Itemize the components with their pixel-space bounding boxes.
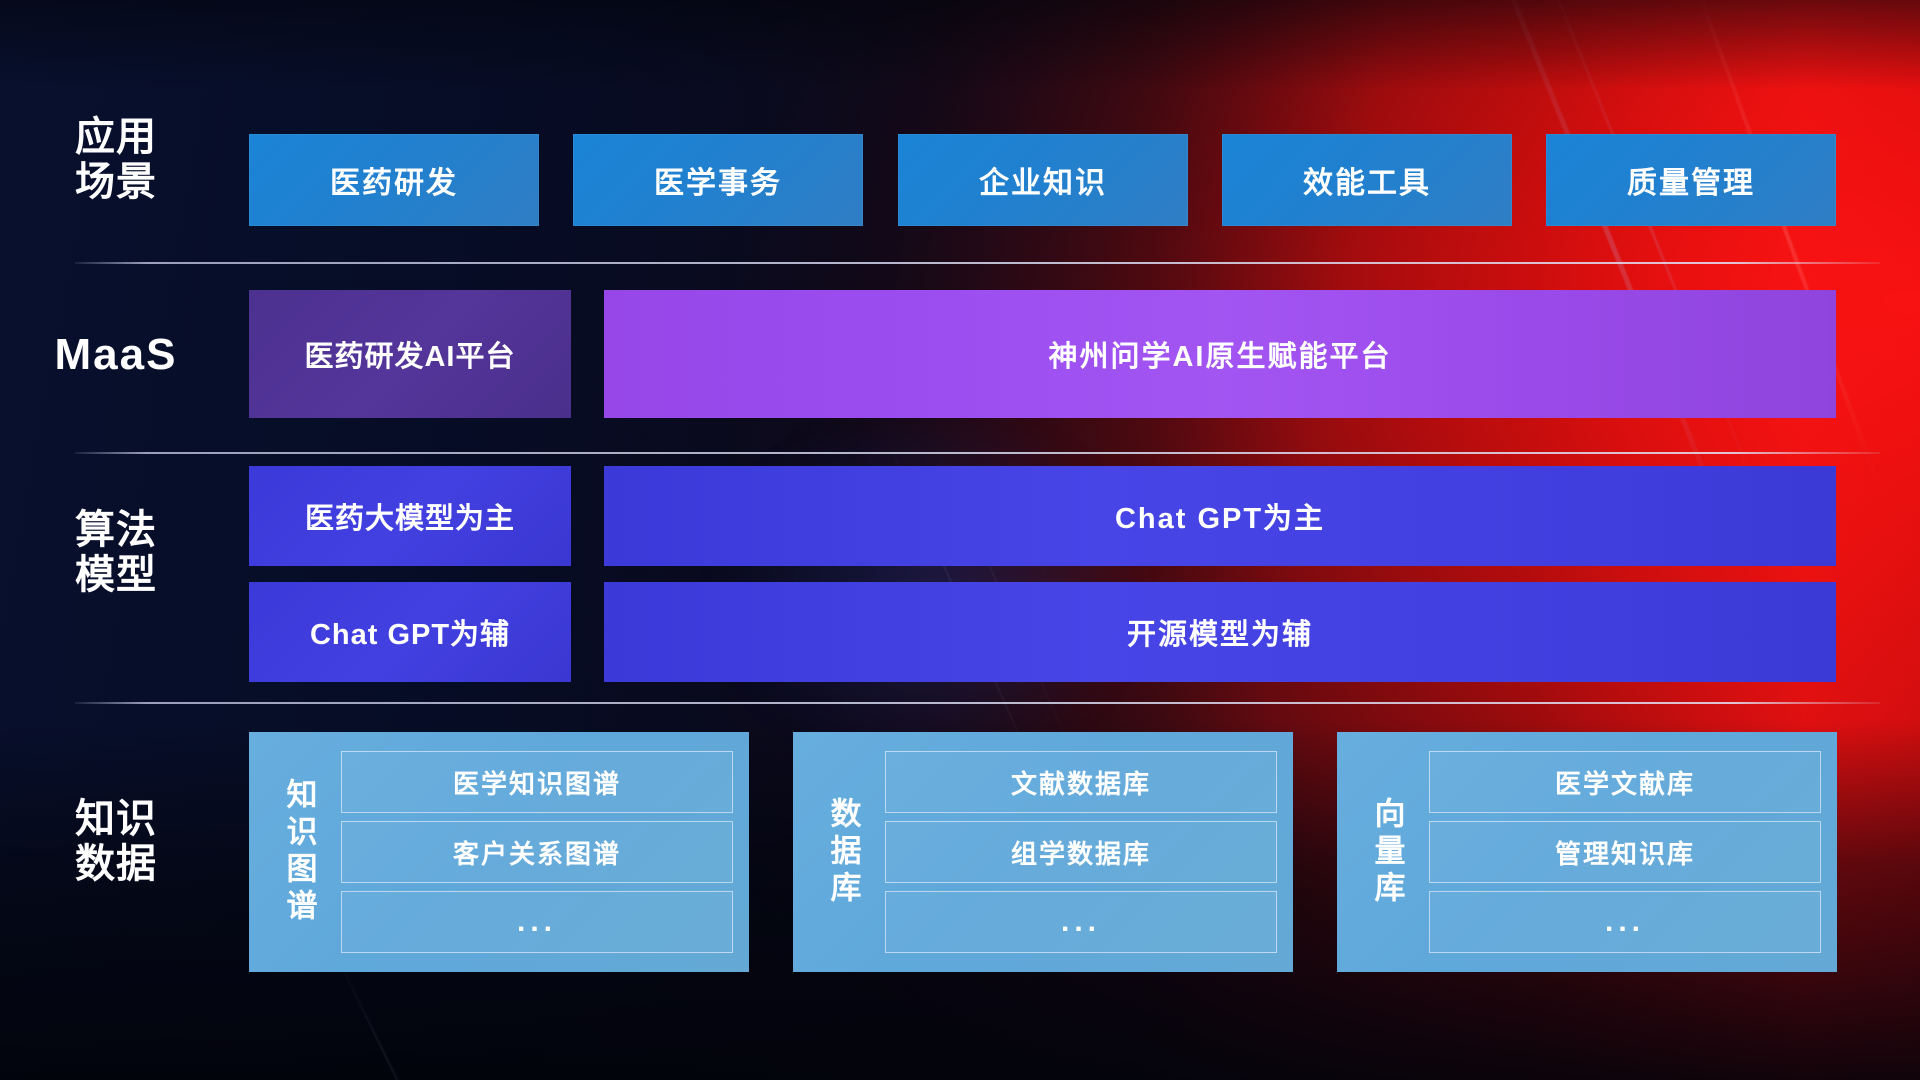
- scenario-card-5[interactable]: 质量管理: [1546, 134, 1836, 226]
- knowledge-item[interactable]: 客户关系图谱: [341, 821, 733, 883]
- row-label-scenarios-line1: 应用: [0, 115, 232, 160]
- row-label-knowledge-line2: 数据: [0, 842, 232, 887]
- algorithm-bar-2-left-label: Chat GPT为辅: [310, 611, 510, 653]
- knowledge-group-graph-items: 医学知识图谱 客户关系图谱 ...: [335, 746, 733, 958]
- knowledge-item-more[interactable]: ...: [885, 891, 1277, 953]
- row-label-scenarios: 应用 场景: [0, 115, 232, 205]
- scenario-card-3[interactable]: 企业知识: [898, 134, 1188, 226]
- knowledge-item[interactable]: 医学文献库: [1429, 751, 1821, 813]
- algorithm-bar-2-right[interactable]: 开源模型为辅: [604, 582, 1836, 682]
- knowledge-group-vector-label: 向量库: [1351, 746, 1423, 958]
- maas-card-medical-ai-platform[interactable]: 医药研发AI平台: [249, 290, 571, 418]
- knowledge-group-vector[interactable]: 向量库 医学文献库 管理知识库 ...: [1337, 732, 1837, 972]
- knowledge-group-vector-items: 医学文献库 管理知识库 ...: [1423, 746, 1821, 958]
- knowledge-group-graph[interactable]: 知识图谱 医学知识图谱 客户关系图谱 ...: [249, 732, 749, 972]
- row-label-algorithm-line1: 算法: [0, 508, 232, 553]
- row-label-maas: MaaS: [0, 330, 232, 379]
- knowledge-item-more[interactable]: ...: [341, 891, 733, 953]
- scenario-card-4-label: 效能工具: [1303, 158, 1431, 202]
- row-label-knowledge-line1: 知识: [0, 797, 232, 842]
- scenario-card-5-label: 质量管理: [1627, 158, 1755, 202]
- scenario-card-4[interactable]: 效能工具: [1222, 134, 1512, 226]
- algorithm-bar-1-left[interactable]: 医药大模型为主: [249, 466, 571, 566]
- row-label-maas-text: MaaS: [0, 330, 232, 379]
- algorithm-bar-1-left-label: 医药大模型为主: [305, 495, 515, 537]
- scenario-card-1[interactable]: 医药研发: [249, 134, 539, 226]
- divider-scenarios-maas: [75, 262, 1880, 264]
- row-label-algorithm: 算法 模型: [0, 508, 232, 598]
- knowledge-group-database[interactable]: 数据库 文献数据库 组学数据库 ...: [793, 732, 1293, 972]
- row-label-algorithm-line2: 模型: [0, 553, 232, 598]
- algorithm-bar-2-left[interactable]: Chat GPT为辅: [249, 582, 571, 682]
- scenario-card-1-label: 医药研发: [330, 158, 458, 202]
- scenario-card-3-label: 企业知识: [979, 158, 1107, 202]
- algorithm-bar-1-right[interactable]: Chat GPT为主: [604, 466, 1836, 566]
- knowledge-item[interactable]: 组学数据库: [885, 821, 1277, 883]
- knowledge-group-graph-label: 知识图谱: [263, 746, 335, 958]
- maas-card-shenzhou-platform-label: 神州问学AI原生赋能平台: [1048, 333, 1391, 375]
- divider-algorithm-knowledge: [75, 702, 1880, 704]
- architecture-diagram: 应用 场景 医药研发 医学事务 企业知识 效能工具 质量管理 MaaS 医药研发…: [0, 0, 1920, 1080]
- knowledge-group-database-label: 数据库: [807, 746, 879, 958]
- knowledge-item[interactable]: 管理知识库: [1429, 821, 1821, 883]
- scenario-card-2-label: 医学事务: [654, 158, 782, 202]
- knowledge-item-more[interactable]: ...: [1429, 891, 1821, 953]
- knowledge-item[interactable]: 文献数据库: [885, 751, 1277, 813]
- algorithm-bar-2-right-label: 开源模型为辅: [1127, 611, 1313, 653]
- scenario-card-2[interactable]: 医学事务: [573, 134, 863, 226]
- knowledge-group-database-items: 文献数据库 组学数据库 ...: [879, 746, 1277, 958]
- knowledge-item[interactable]: 医学知识图谱: [341, 751, 733, 813]
- row-label-knowledge: 知识 数据: [0, 797, 232, 887]
- divider-maas-algorithm: [75, 452, 1880, 454]
- algorithm-bar-1-right-label: Chat GPT为主: [1115, 495, 1325, 537]
- row-label-scenarios-line2: 场景: [0, 160, 232, 205]
- maas-card-shenzhou-platform[interactable]: 神州问学AI原生赋能平台: [604, 290, 1836, 418]
- maas-card-medical-ai-platform-label: 医药研发AI平台: [304, 333, 515, 375]
